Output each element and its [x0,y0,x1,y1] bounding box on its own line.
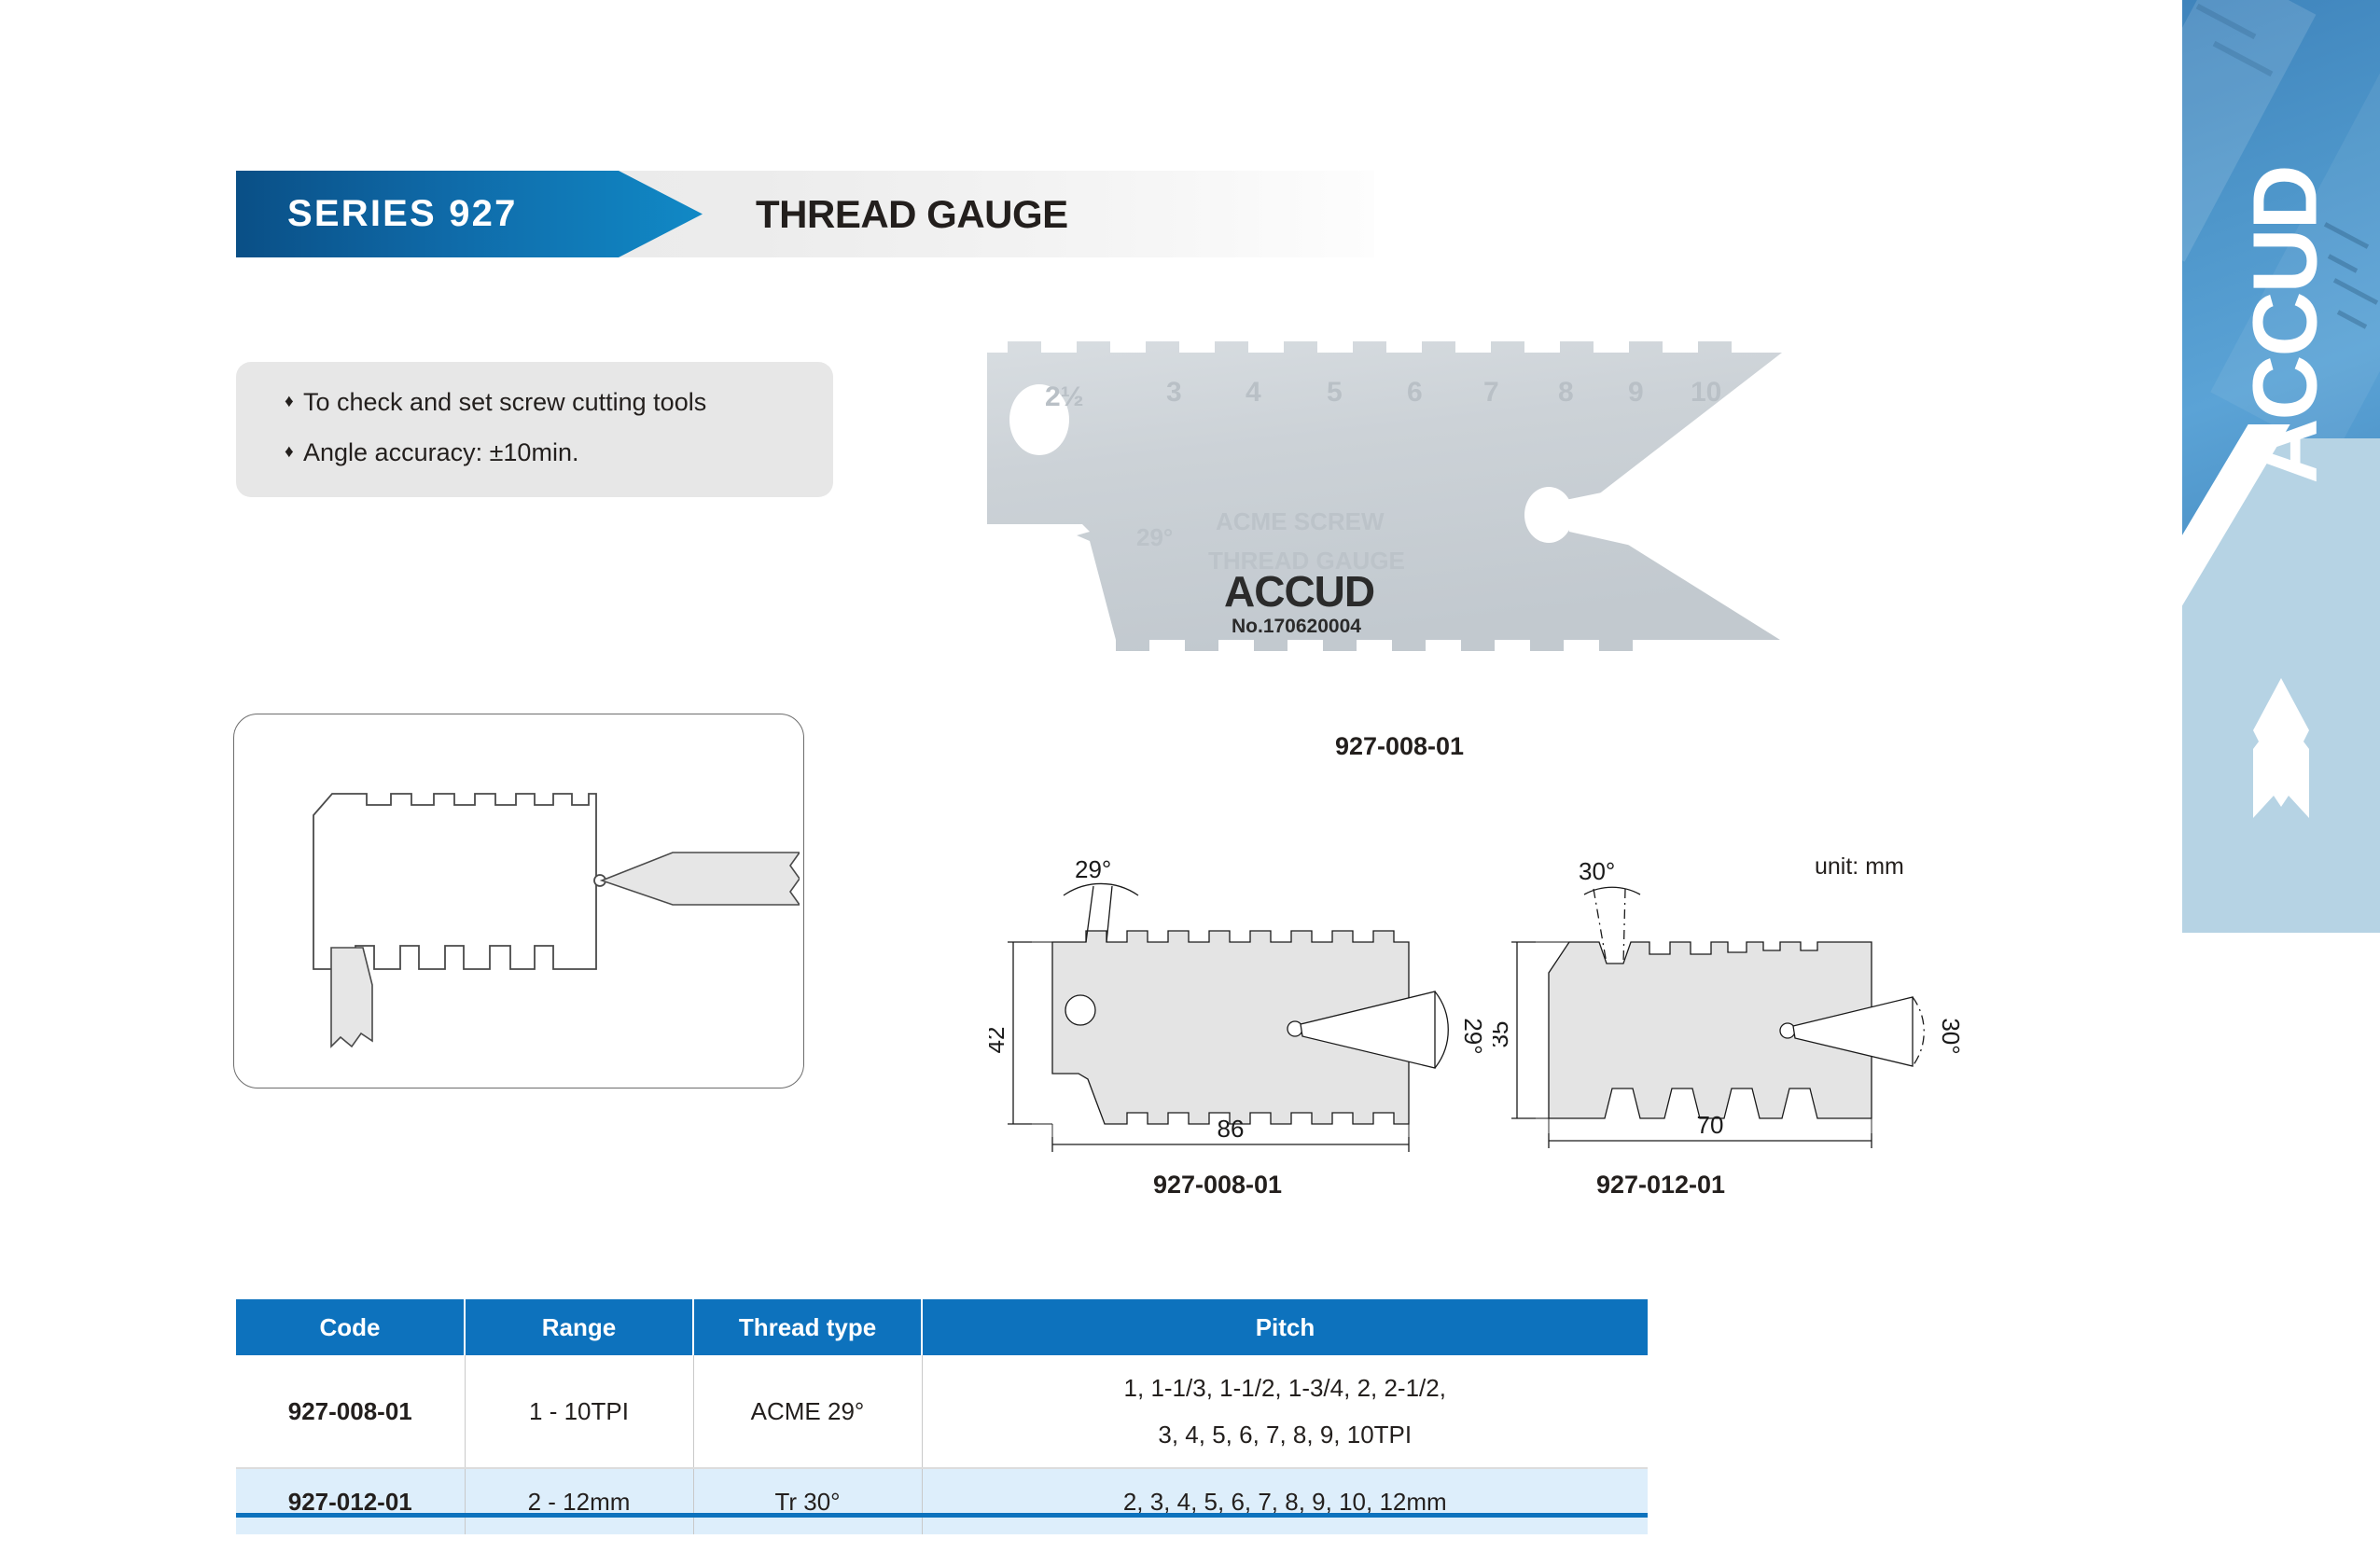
engraved-angle: 29° [1136,523,1173,551]
photo-caption: 927-008-01 [980,732,1819,761]
cell-pitch-line2: 3, 4, 5, 6, 7, 8, 9, 10TPI [924,1411,1648,1458]
diamond-bullet-icon: ♦ [285,437,303,468]
engraved-number: 8 [1558,377,1574,408]
drawing-b-svg: 30° 30° 35 70 [1493,844,2015,1152]
series-label: SERIES 927 [236,193,518,235]
drawing-b-dim-vertical [1511,942,1536,1118]
horizontal-tool-shape [602,853,800,905]
product-photo-svg: 2½ 3 4 5 6 7 8 9 10 29° ACME SCREW THREA… [980,308,1819,709]
series-chevron: SERIES 927 [236,171,703,257]
feature-item: ♦ To check and set screw cutting tools [236,386,833,418]
engraved-number: 7 [1483,377,1499,408]
column-header-code: Code [236,1299,465,1355]
table-header-row: Code Range Thread type Pitch [236,1299,1648,1355]
diamond-bullet-icon: ♦ [285,386,303,418]
arrow-glyph [2253,678,2309,818]
cell-range: 2 - 12mm [465,1468,693,1534]
column-header-pitch: Pitch [922,1299,1648,1355]
brand-logo-print: ACCUD [1224,567,1374,616]
cell-pitch-line1: 1, 1-1/3, 1-1/2, 1-3/4, 2, 2-1/2, [924,1365,1648,1411]
drawing-b-height-dim: 35 [1493,1021,1513,1048]
features-box: ♦ To check and set screw cutting tools ♦… [236,362,833,497]
drawing-b-top-angle: 30° [1579,857,1615,885]
unit-note: unit: mm [1815,853,1904,880]
product-photo: 2½ 3 4 5 6 7 8 9 10 29° ACME SCREW THREA… [980,308,1819,709]
cell-pitch: 1, 1-1/3, 1-1/2, 1-3/4, 2, 2-1/2, 3, 4, … [922,1355,1648,1468]
drawing-a-dim-vertical [1008,942,1032,1124]
table-row: 927-008-01 1 - 10TPI ACME 29° 1, 1-1/3, … [236,1355,1648,1468]
drawing-a-pivot [1287,1021,1302,1036]
drawing-a-hole [1065,995,1095,1025]
brand-wordmark: ACCUD [2240,102,2331,549]
table-row: 927-012-01 2 - 12mm Tr 30° 2, 3, 4, 5, 6… [236,1468,1648,1534]
table-bottom-rule [236,1513,1648,1518]
feature-text: To check and set screw cutting tools [303,386,706,418]
vertical-tool-shape [331,948,372,1047]
usage-illustration-box [233,714,804,1088]
drawing-caption-012: 927-012-01 [1474,1171,1847,1199]
cell-code: 927-008-01 [236,1355,465,1468]
column-header-thread-type: Thread type [693,1299,922,1355]
spec-table: Code Range Thread type Pitch 927-008-01 … [236,1299,1648,1534]
drawing-b-side-angle: 30° [1937,1018,1965,1054]
engraved-number: 4 [1246,377,1261,408]
cell-thread-type: Tr 30° [693,1468,922,1534]
drawing-b-pivot [1780,1023,1795,1038]
cell-range: 1 - 10TPI [465,1355,693,1468]
drawing-b-width-dim: 70 [1697,1111,1724,1139]
drawing-a-side-angle: 29° [1459,1018,1487,1054]
brand-sidebar: ACCUD [2182,0,2380,933]
column-header-range: Range [465,1299,693,1355]
pivot-hole [1524,487,1573,543]
drawing-b-side-arc [1913,997,1924,1066]
engraved-title-line1: ACME SCREW [1216,507,1385,535]
feature-text: Angle accuracy: ±10min. [303,437,578,468]
engraved-number: 2½ [1045,381,1084,412]
cell-thread-type: ACME 29° [693,1355,922,1468]
drawing-a-width-dim: 86 [1218,1115,1245,1143]
drawing-a-svg: 29° 29° 42 86 [989,844,1511,1152]
brand-arrow-icon [2242,676,2320,853]
engraved-number: 3 [1166,377,1182,408]
technical-drawing-008: 29° 29° 42 86 [989,844,1511,1152]
drawing-a-angle-arc [1064,883,1138,895]
serial-number-print: No.170620004 [1232,616,1361,637]
drawing-a-top-angle: 29° [1075,855,1111,883]
gauge-outline [313,794,596,969]
drawing-caption-008: 927-008-01 [1031,1171,1404,1199]
drawing-a-side-arc [1435,991,1448,1068]
engraved-number: 10 [1691,377,1721,408]
engraved-number: 6 [1407,377,1423,408]
drawing-a-height-dim: 42 [989,1027,1009,1054]
usage-illustration-svg [234,714,800,1084]
feature-item: ♦ Angle accuracy: ±10min. [236,437,833,468]
technical-drawing-012: 30° 30° 35 70 [1493,844,2015,1152]
drawing-b-angle-arc [1584,887,1640,894]
cell-code: 927-012-01 [236,1468,465,1534]
engraved-number: 5 [1327,377,1343,408]
cell-pitch: 2, 3, 4, 5, 6, 7, 8, 9, 10, 12mm [922,1468,1648,1534]
engraved-number: 9 [1628,377,1644,408]
page-title: THREAD GAUGE [756,171,1068,257]
